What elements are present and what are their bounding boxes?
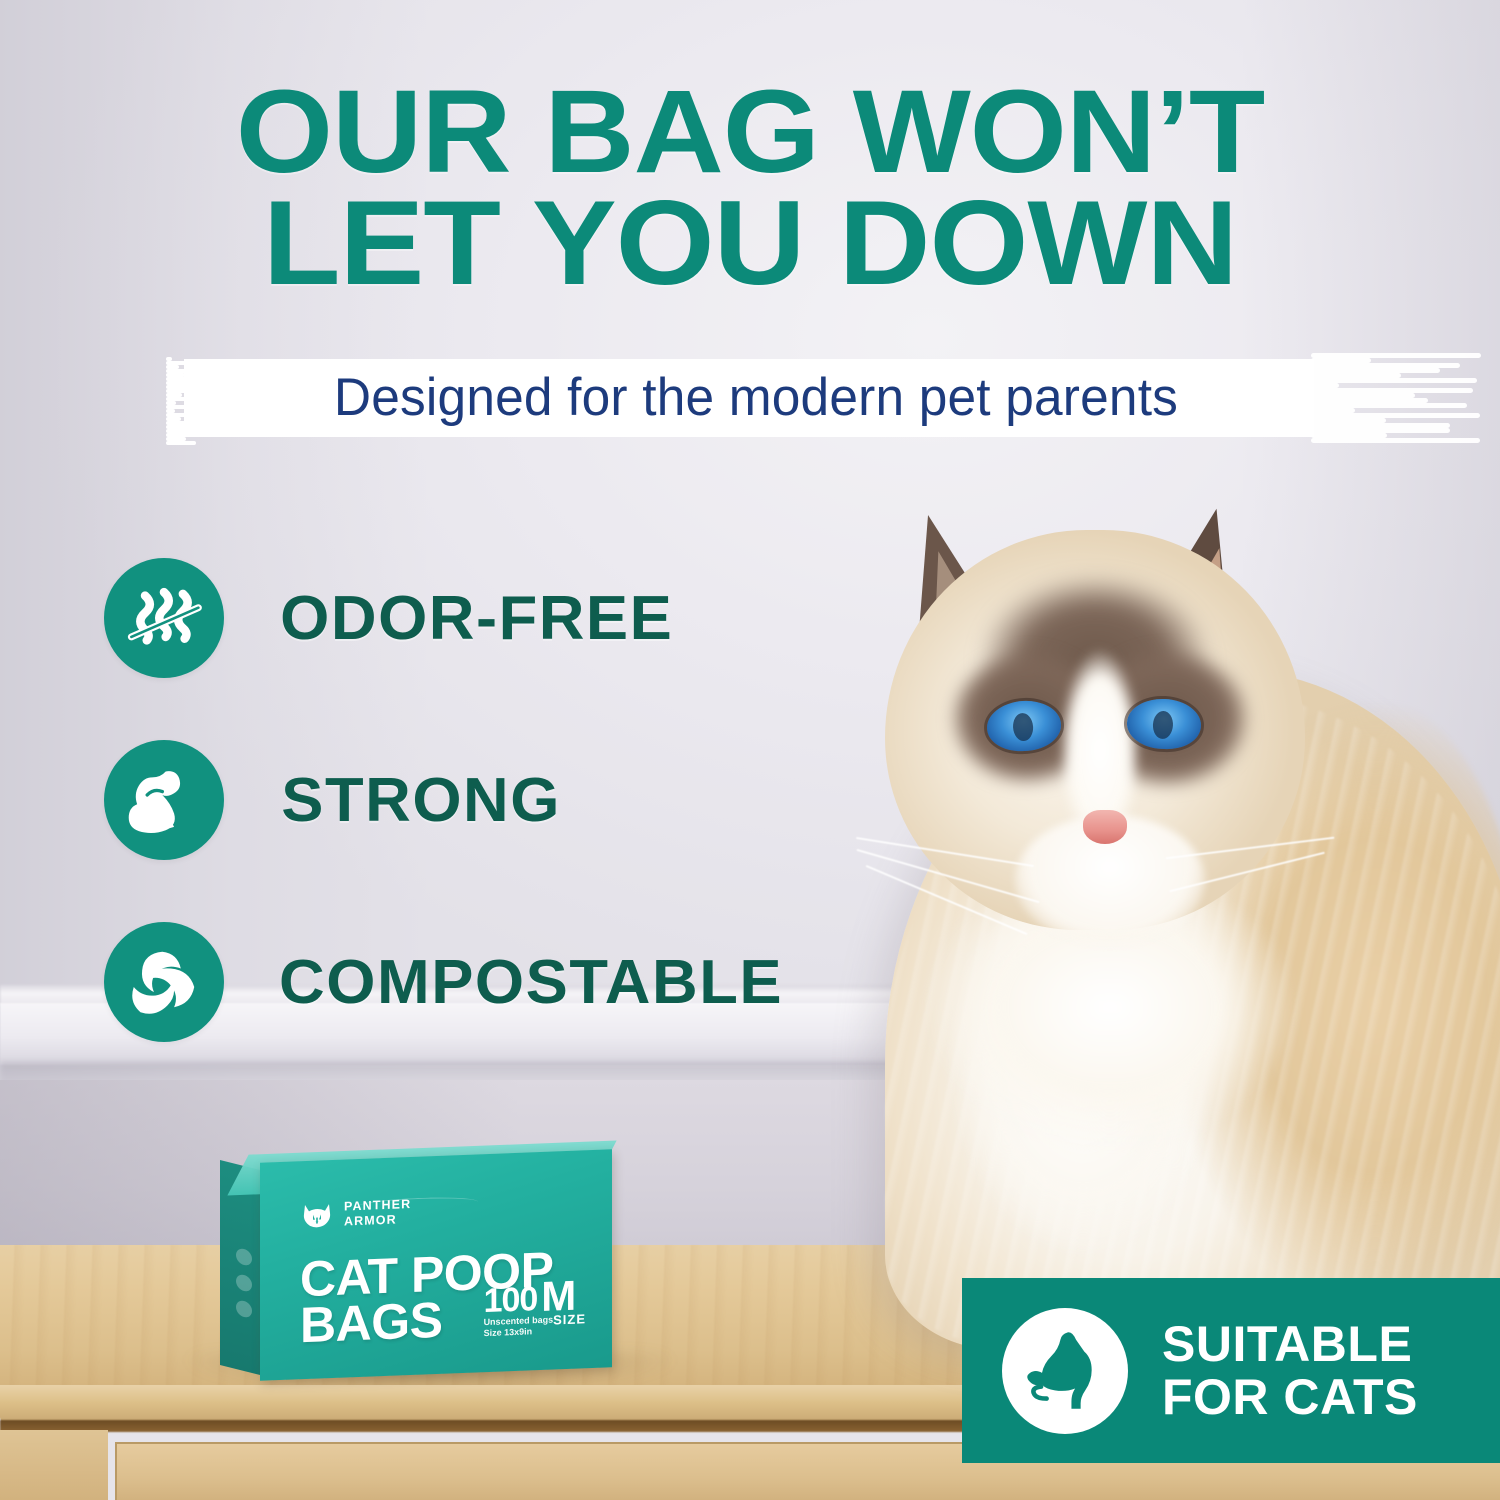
sitting-cat-silhouette-icon: [1002, 1308, 1128, 1434]
product-detail-1: Unscented bags: [484, 1314, 554, 1327]
panther-head-icon: [302, 1202, 332, 1229]
brush-fray: [1311, 438, 1480, 443]
product-count-block: 100 M Unscented bags Size 13x9in SIZE: [484, 1277, 586, 1339]
feature-label-strong: STRONG: [281, 765, 561, 836]
recycling-leaves-icon: [104, 922, 224, 1042]
subtitle-text: Designed for the modern pet parents: [184, 349, 1329, 445]
side-icon: [236, 1299, 252, 1319]
smoke-lines-crossed-out-icon: [104, 558, 224, 678]
feature-label-compostable: COMPOSTABLE: [279, 947, 783, 1018]
side-icon: [236, 1273, 252, 1293]
product-size-letter: M: [541, 1278, 576, 1315]
cat-pupil-left: [1012, 712, 1034, 741]
brush-stroke-right-frays: [1311, 353, 1491, 445]
table-leg: [0, 1430, 108, 1500]
brand-line-2: ARMOR: [344, 1212, 397, 1228]
product-size-word: SIZE: [553, 1311, 586, 1327]
brand-line-1: PANTHER: [344, 1197, 411, 1214]
subtitle-banner: Designed for the modern pet parents: [166, 349, 1346, 445]
headline-line-2: LET YOU DOWN: [0, 188, 1500, 300]
product-count: 100: [484, 1284, 538, 1317]
flexed-bicep-icon: [104, 740, 224, 860]
cat-nose: [1083, 810, 1127, 844]
product-title-line-2: BAGS: [300, 1292, 442, 1353]
headline-line-1: OUR BAG WON’T: [0, 78, 1500, 188]
status-badge: SUITABLE FOR CATS: [962, 1278, 1500, 1463]
feature-item-strong: STRONG: [104, 740, 924, 860]
product-brand-name: PANTHER ARMOR: [344, 1197, 411, 1229]
product-box: PANTHER ARMOR CAT POOP BAGS 100 M Unscen…: [208, 1140, 638, 1390]
badge-line-2: FOR CATS: [1162, 1369, 1418, 1425]
badge-text: SUITABLE FOR CATS: [1162, 1318, 1418, 1423]
cat-pupil-right: [1152, 710, 1173, 739]
side-icon: [236, 1247, 252, 1267]
feature-item-compostable: COMPOSTABLE: [104, 922, 924, 1042]
product-brand-lockup: PANTHER ARMOR: [302, 1197, 411, 1231]
page-title: OUR BAG WON’T LET YOU DOWN: [0, 78, 1500, 299]
feature-label-odor-free: ODOR-FREE: [280, 583, 673, 654]
feature-list: ODOR-FREE STRONG COMPOSTABLE: [104, 558, 924, 1104]
badge-line-1: SUITABLE: [1162, 1316, 1412, 1372]
feature-item-odor-free: ODOR-FREE: [104, 558, 924, 678]
product-detail-lines: Unscented bags Size 13x9in: [484, 1314, 554, 1339]
product-detail-2: Size 13x9in: [484, 1326, 533, 1338]
